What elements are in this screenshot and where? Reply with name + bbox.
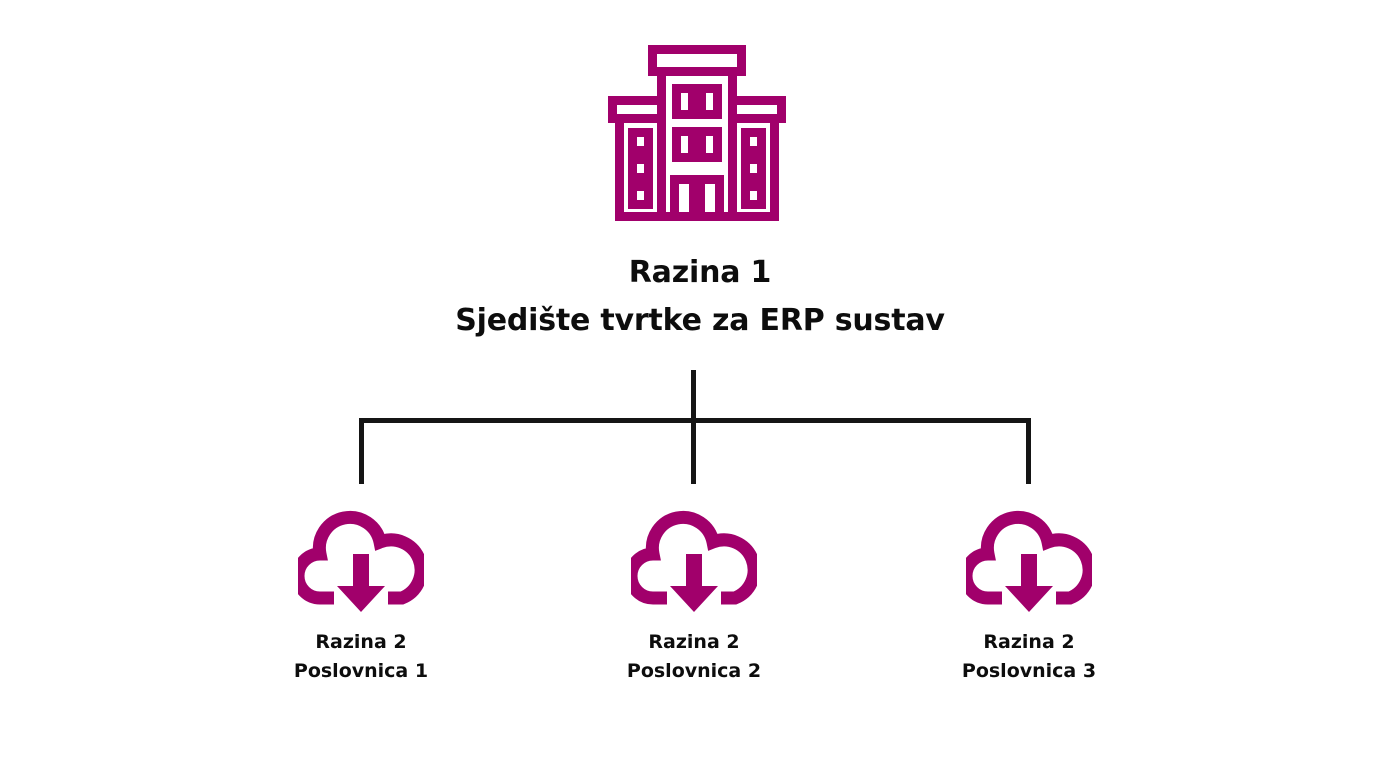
cloud-download-icon: [298, 502, 424, 614]
cloud-download-icon: [631, 502, 757, 614]
office-building-icon: [608, 44, 786, 222]
hierarchy-diagram: Razina 1 Sjedište tvrtke za ERP sustav R…: [0, 0, 1400, 768]
connector-horizontal-bus: [359, 418, 1031, 423]
connector-drop-child-2: [691, 418, 696, 484]
child-3-label-line1: Razina 2: [914, 628, 1144, 657]
root-label-line2: Sjedište tvrtke za ERP sustav: [0, 302, 1400, 340]
connector-drop-child-3: [1026, 418, 1031, 484]
child-2-label-line2: Poslovnica 2: [579, 657, 809, 686]
child-1-labels: Razina 2 Poslovnica 1: [246, 628, 476, 686]
child-3-labels: Razina 2 Poslovnica 3: [914, 628, 1144, 686]
child-2-labels: Razina 2 Poslovnica 2: [579, 628, 809, 686]
child-2-label-line1: Razina 2: [579, 628, 809, 657]
cloud-download-icon: [966, 502, 1092, 614]
child-3-label-line2: Poslovnica 3: [914, 657, 1144, 686]
child-1-label-line1: Razina 2: [246, 628, 476, 657]
root-label-line1: Razina 1: [0, 254, 1400, 292]
child-1-label-line2: Poslovnica 1: [246, 657, 476, 686]
connector-drop-child-1: [359, 418, 364, 484]
connector-root-stem: [691, 370, 696, 422]
